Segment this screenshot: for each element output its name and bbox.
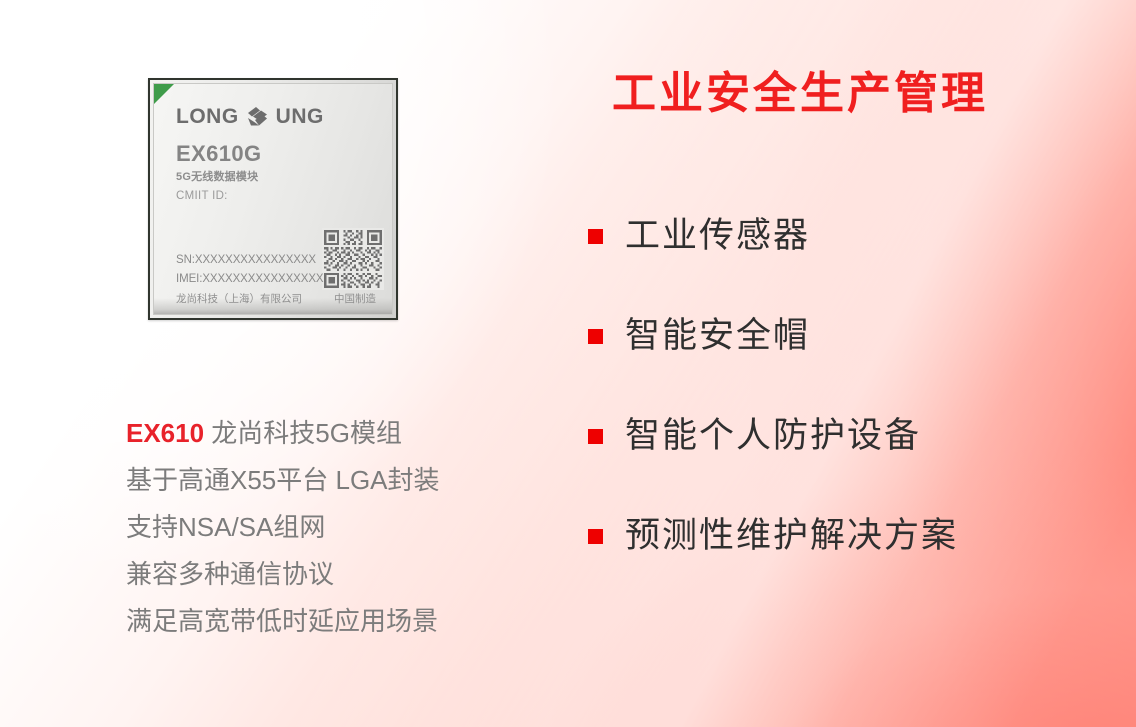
product-spec-list: EX610 龙尚科技5G模组 基于高通X55平台 LGA封装 支持NSA/SA组…: [126, 410, 546, 645]
list-item: 智能个人防护设备: [588, 386, 1088, 486]
spec-line-4: 兼容多种通信协议: [126, 551, 546, 598]
module-serial-number-text: SN:XXXXXXXXXXXXXXXX: [176, 255, 316, 267]
slide-canvas: LONG UNG EX610G 5G无线数据模块 CMIIT ID:: [0, 0, 1136, 727]
list-item: 工业传感器: [588, 186, 1088, 286]
module-bottom-shading: [154, 298, 392, 314]
module-green-corner-marker: [154, 84, 174, 104]
list-item-label: 智能安全帽: [625, 316, 810, 356]
spec-line-5: 满足高宽带低时延应用场景: [126, 598, 546, 645]
bullet-square-icon: [588, 329, 603, 344]
product-module-image: LONG UNG EX610G 5G无线数据模块 CMIIT ID:: [148, 78, 398, 320]
list-item: 预测性维护解决方案: [588, 486, 1088, 586]
page-title: 工业安全生产管理: [612, 70, 988, 118]
list-item-label: 工业传感器: [625, 216, 810, 256]
bullet-square-icon: [588, 429, 603, 444]
module-model-text: EX610G: [176, 143, 262, 165]
module-label-face: LONG UNG EX610G 5G无线数据模块 CMIIT ID:: [153, 83, 393, 315]
module-brand-left-text: LONG: [176, 106, 239, 127]
spec-product-code: EX610: [126, 418, 204, 448]
bullet-square-icon: [588, 229, 603, 244]
list-item-label: 预测性维护解决方案: [625, 516, 958, 556]
module-cmiit-id-text: CMIIT ID:: [176, 191, 228, 203]
list-item-label: 智能个人防护设备: [625, 416, 921, 456]
bullet-square-icon: [588, 529, 603, 544]
spec-line-2: 基于高通X55平台 LGA封装: [126, 457, 546, 504]
module-brand-right-text: UNG: [276, 106, 324, 127]
feature-bullet-list: 工业传感器 智能安全帽 智能个人防护设备 预测性维护解决方案: [588, 186, 1088, 586]
module-imei-text: IMEI:XXXXXXXXXXXXXXXX: [176, 274, 323, 286]
longsung-diamond-logo-icon: [246, 106, 269, 127]
module-brand-logo: LONG UNG: [176, 106, 324, 127]
spec-line-3: 支持NSA/SA组网: [126, 504, 546, 551]
module-qr-code-icon: [322, 228, 384, 290]
module-subtitle-text: 5G无线数据模块: [176, 172, 258, 183]
spec-product-name: 龙尚科技5G模组: [204, 418, 402, 448]
list-item: 智能安全帽: [588, 286, 1088, 386]
spec-line-1: EX610 龙尚科技5G模组: [126, 410, 546, 457]
